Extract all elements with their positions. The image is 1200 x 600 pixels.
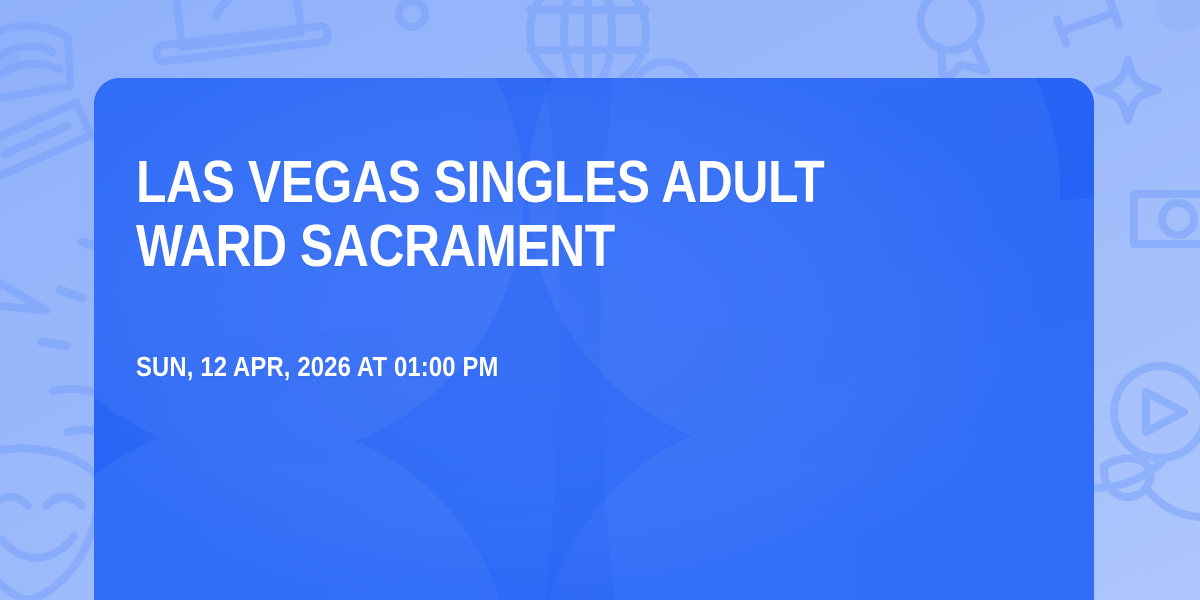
event-card[interactable]: Las Vegas Singles Adult Ward Sacrament S… bbox=[94, 78, 1094, 600]
event-title: Las Vegas Singles Adult Ward Sacrament bbox=[136, 150, 898, 279]
event-datetime: Sun, 12 Apr, 2026 at 01:00 PM bbox=[136, 351, 903, 383]
card-content: Las Vegas Singles Adult Ward Sacrament S… bbox=[94, 78, 1094, 600]
